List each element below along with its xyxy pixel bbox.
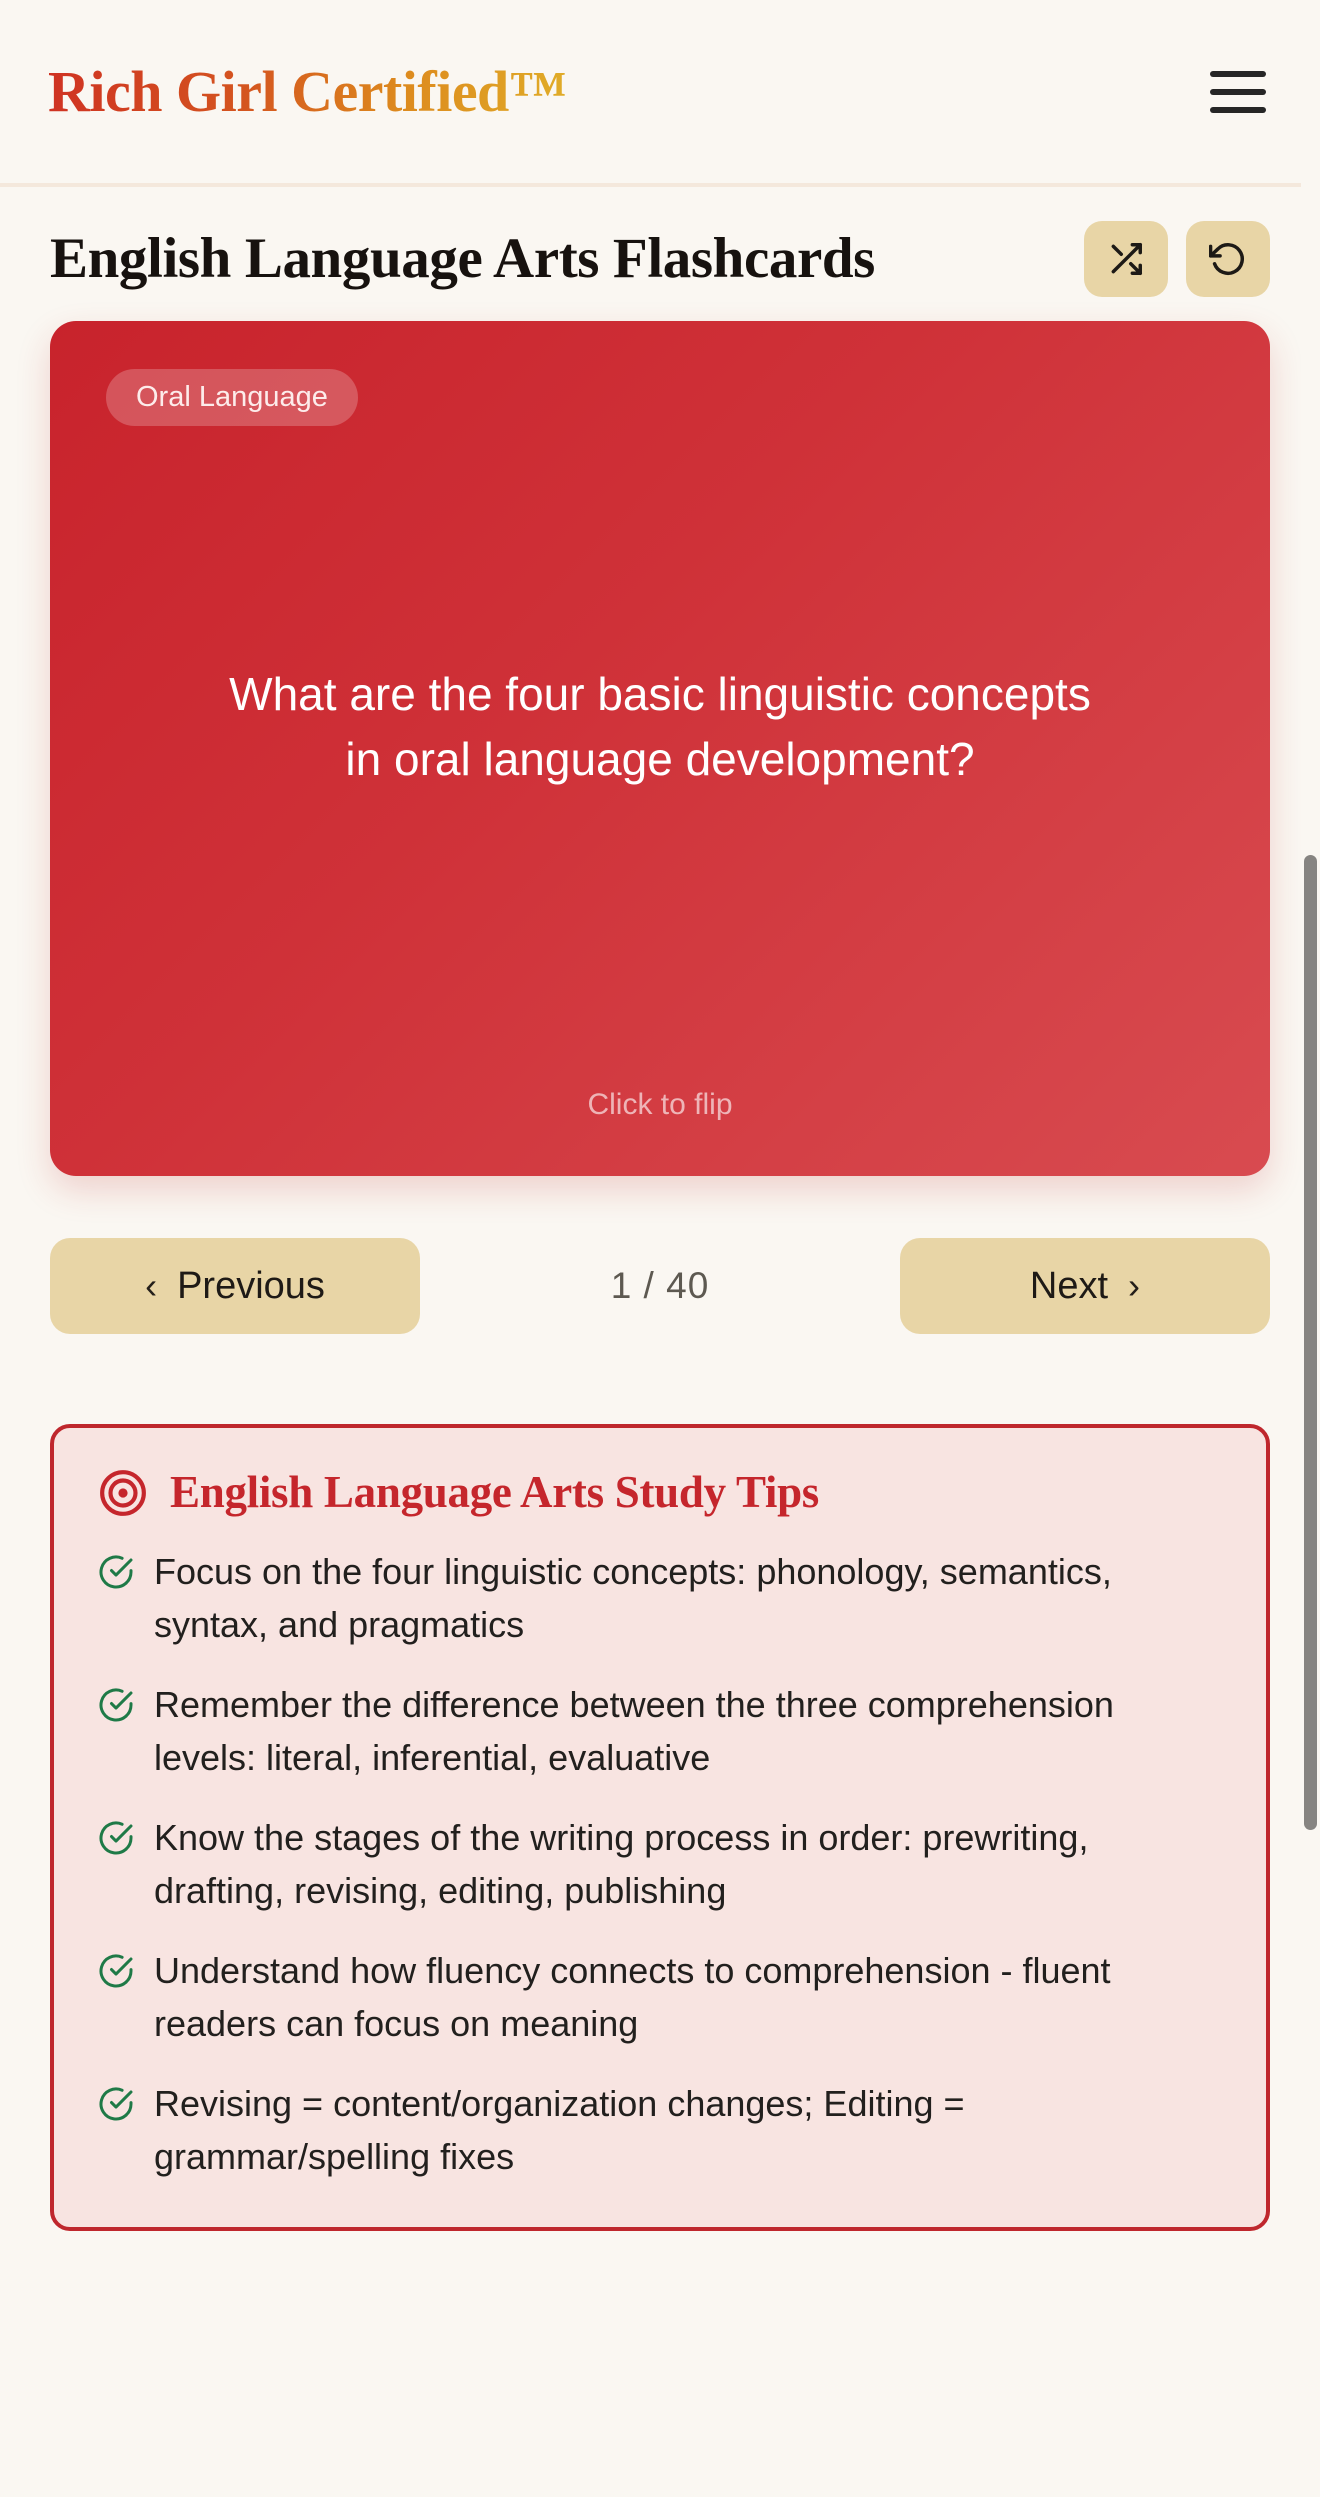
study-tips-area: English Language Arts Study Tips Focus o… (0, 1334, 1320, 2231)
previous-button-label: Previous (177, 1265, 325, 1308)
flashcard-area: Oral Language What are the four basic li… (0, 311, 1320, 1176)
list-item: Understand how fluency connects to compr… (98, 1945, 1222, 2050)
flashcard-question: What are the four basic linguistic conce… (170, 366, 1150, 1088)
tip-text: Revising = content/organization changes;… (154, 2078, 1222, 2183)
card-navigation: ‹ Previous 1 / 40 Next › (0, 1176, 1320, 1334)
check-circle-icon (98, 2078, 134, 2127)
scrollbar-track[interactable] (1301, 0, 1320, 2497)
study-tips-heading: English Language Arts Study Tips (170, 1468, 819, 1518)
flashcard[interactable]: Oral Language What are the four basic li… (50, 321, 1270, 1176)
check-circle-icon (98, 1546, 134, 1595)
scrollbar-thumb[interactable] (1304, 855, 1317, 1830)
site-header: Rich Girl Certified™ (0, 0, 1320, 187)
check-circle-icon (98, 1945, 134, 1994)
list-item: Focus on the four linguistic concepts: p… (98, 1546, 1222, 1651)
check-circle-icon (98, 1679, 134, 1728)
site-logo[interactable]: Rich Girl Certified™ (48, 63, 566, 121)
hamburger-bar-2 (1210, 89, 1266, 95)
hamburger-menu-icon[interactable] (1206, 64, 1270, 120)
shuffle-icon (1107, 240, 1145, 278)
tip-text: Remember the difference between the thre… (154, 1679, 1222, 1784)
tip-text: Know the stages of the writing process i… (154, 1812, 1222, 1917)
tip-text: Understand how fluency connects to compr… (154, 1945, 1222, 2050)
reset-button[interactable] (1186, 221, 1270, 297)
shuffle-button[interactable] (1084, 221, 1168, 297)
study-tips-header: English Language Arts Study Tips (98, 1468, 1222, 1518)
page-title: English Language Arts Flashcards (50, 229, 875, 289)
card-counter: 1 / 40 (611, 1265, 710, 1307)
list-item: Remember the difference between the thre… (98, 1679, 1222, 1784)
chevron-left-icon: ‹ (145, 1268, 157, 1304)
list-item: Revising = content/organization changes;… (98, 2078, 1222, 2183)
previous-button[interactable]: ‹ Previous (50, 1238, 420, 1334)
bullseye-target-icon (98, 1468, 148, 1518)
next-button[interactable]: Next › (900, 1238, 1270, 1334)
flip-hint: Click to flip (106, 1088, 1214, 1136)
title-actions (1084, 221, 1270, 297)
hamburger-bar-3 (1210, 107, 1266, 113)
check-circle-icon (98, 1812, 134, 1861)
tip-text: Focus on the four linguistic concepts: p… (154, 1546, 1222, 1651)
page-title-row: English Language Arts Flashcards (0, 187, 1320, 311)
list-item: Know the stages of the writing process i… (98, 1812, 1222, 1917)
study-tips-list: Focus on the four linguistic concepts: p… (98, 1546, 1222, 2183)
next-button-label: Next (1030, 1265, 1108, 1308)
flashcards-page: Rich Girl Certified™ English Language Ar… (0, 0, 1320, 2497)
study-tips-card: English Language Arts Study Tips Focus o… (50, 1424, 1270, 2231)
hamburger-bar-1 (1210, 71, 1266, 77)
chevron-right-icon: › (1128, 1268, 1140, 1304)
rotate-ccw-icon (1209, 240, 1247, 278)
